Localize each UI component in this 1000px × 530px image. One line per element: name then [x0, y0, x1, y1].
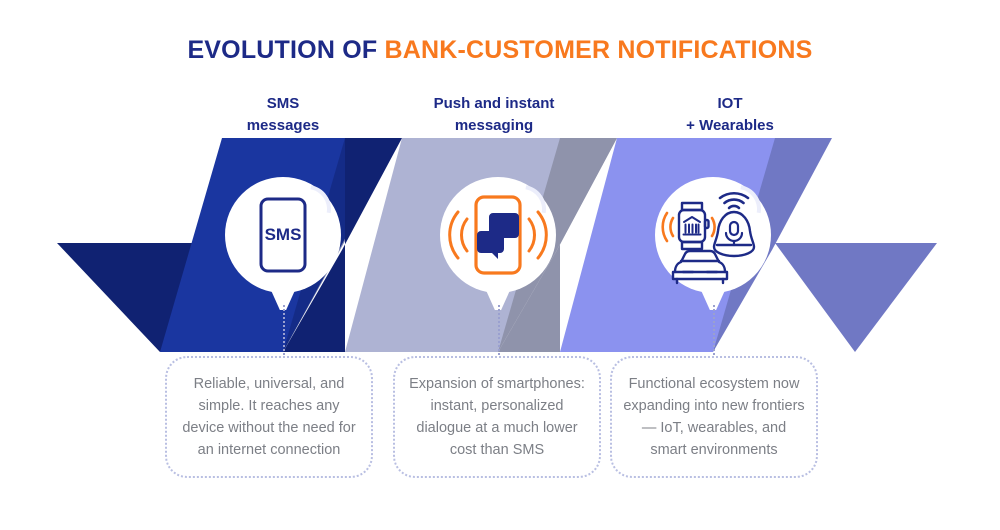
sms-icon-label: SMS [265, 225, 302, 244]
smart-speaker-icon [714, 212, 754, 256]
stage-icon-circle-2 [440, 177, 556, 293]
stage-heading-3: IOT + Wearables [620, 93, 840, 137]
stage-caption-1: Reliable, universal, and simple. It reac… [165, 356, 373, 478]
stage-heading-2: Push and instant messaging [384, 93, 604, 137]
stage-caption-2: Expansion of smartphones: instant, perso… [393, 356, 601, 478]
sms-phone-icon: SMS [225, 177, 341, 293]
stage-icon-circle-3 [655, 177, 771, 293]
stage-caption-3: Functional ecosystem now expanding into … [610, 356, 818, 478]
connector-line-2 [498, 305, 500, 355]
connector-line-3 [713, 305, 715, 355]
signal-wave-right [712, 218, 715, 236]
wifi-waves-icon [720, 193, 748, 208]
stage-heading-2-line1: Push and instant [384, 93, 604, 115]
signal-wave-right [529, 212, 546, 258]
infographic-canvas: EVOLUTION OF BANK-CUSTOMER NOTIFICATIONS [0, 0, 1000, 530]
stage-heading-2-line2: messaging [384, 115, 604, 137]
signal-wave-left [663, 213, 673, 241]
push-chat-phone-icon [440, 177, 556, 293]
stage-heading-3-line2: + Wearables [620, 115, 840, 137]
iot-wearables-icon [655, 177, 771, 293]
stage-heading-3-line1: IOT [620, 93, 840, 115]
smartwatch-icon [679, 203, 709, 249]
car-icon [673, 251, 727, 283]
stage-icon-circle-1: SMS [225, 177, 341, 293]
signal-wave-left [450, 212, 467, 258]
stage-heading-1-line2: messages [173, 115, 393, 137]
stage-heading-1: SMS messages [173, 93, 393, 137]
connector-line-1 [283, 305, 285, 355]
stage-heading-1-line1: SMS [173, 93, 393, 115]
